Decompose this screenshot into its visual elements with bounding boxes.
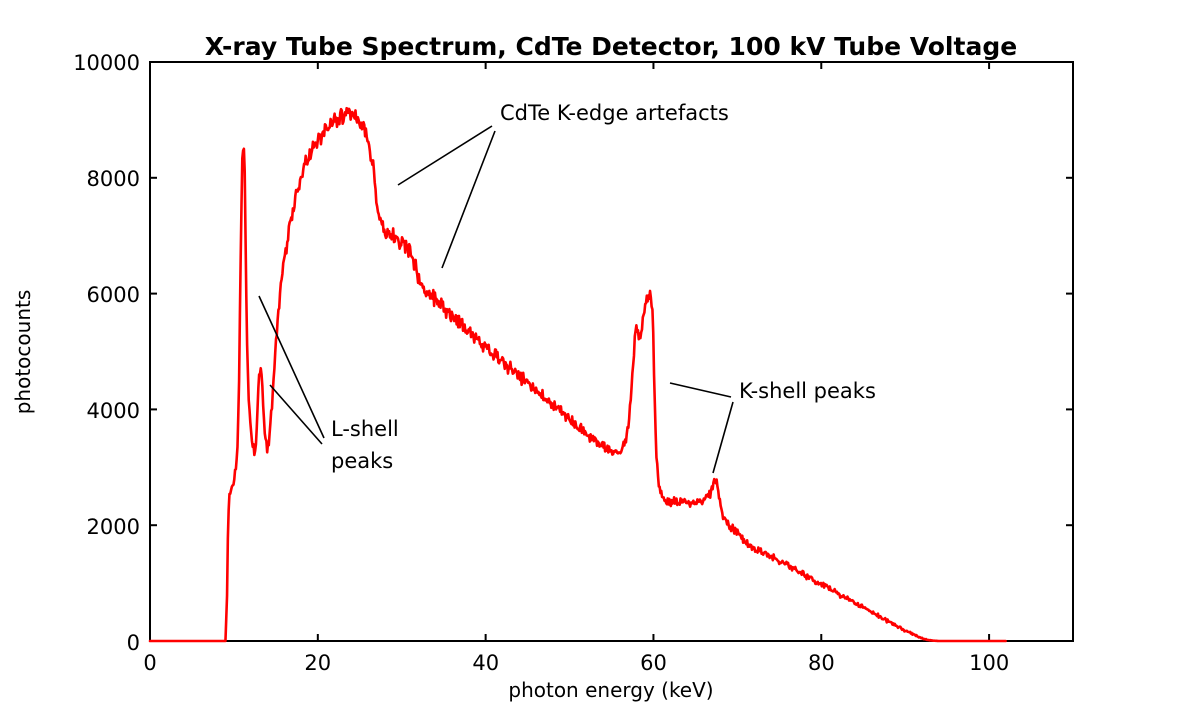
x-tick-labels: 0 20 40 60 80 100	[143, 651, 1009, 675]
y-tick-label: 8000	[87, 167, 140, 191]
x-tick-label: 20	[304, 651, 331, 675]
x-tick-label: 0	[143, 651, 156, 675]
annotation-label-k-shell-peaks: K-shell peaks	[739, 379, 876, 403]
y-tick-label: 2000	[87, 515, 140, 539]
x-tick-label: 40	[472, 651, 499, 675]
y-tick-label: 10000	[73, 51, 140, 75]
y-tick-labels: 0 2000 4000 6000 8000 10000	[73, 51, 140, 655]
chart-svg: X-ray Tube Spectrum, CdTe Detector, 100 …	[0, 0, 1192, 712]
annotation-label-l-shell-peaks: L-shell	[331, 417, 399, 441]
y-tick-label: 4000	[87, 399, 140, 423]
y-tick-label: 6000	[87, 283, 140, 307]
x-tick-label: 100	[969, 651, 1009, 675]
x-tick-label: 80	[808, 651, 835, 675]
x-axis-label: photon energy (keV)	[508, 678, 713, 702]
y-axis-label: photocounts	[11, 290, 35, 415]
figure-canvas: X-ray Tube Spectrum, CdTe Detector, 100 …	[0, 0, 1192, 712]
chart-title: X-ray Tube Spectrum, CdTe Detector, 100 …	[205, 32, 1017, 61]
annotation-label-cdte-k-edge-artefacts: CdTe K-edge artefacts	[500, 101, 729, 125]
y-tick-label: 0	[127, 631, 140, 655]
annotation-label-l-shell-peaks: peaks	[331, 449, 393, 473]
x-tick-label: 60	[640, 651, 667, 675]
plot-background	[150, 62, 1073, 641]
